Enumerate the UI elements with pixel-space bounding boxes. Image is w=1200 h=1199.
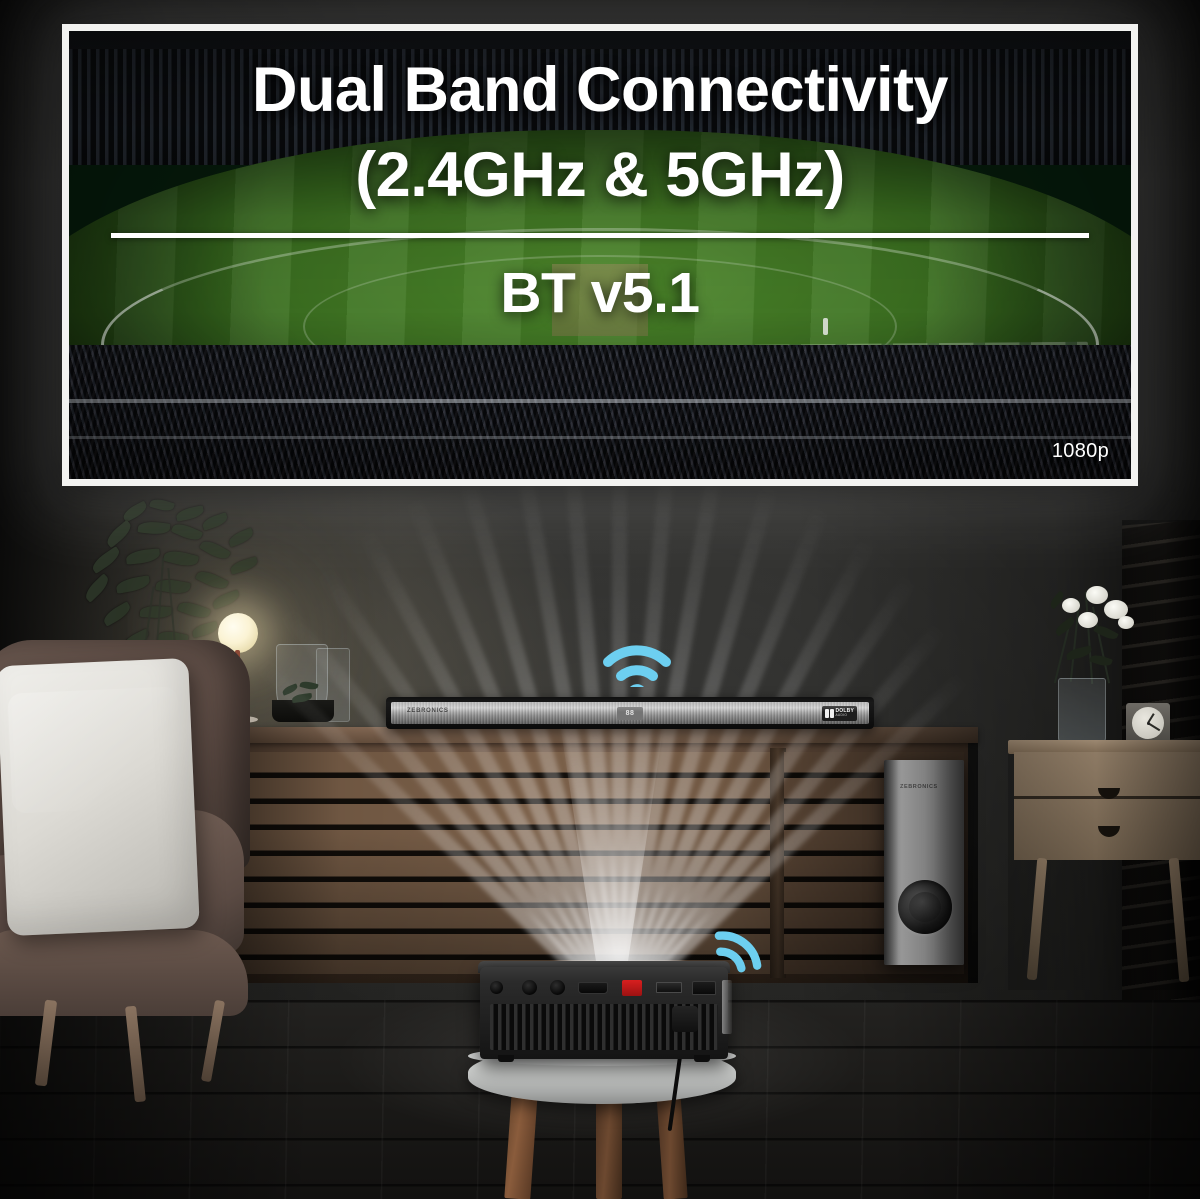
usb-port[interactable] [656,982,682,993]
armchair-cushion-highlight [7,686,182,813]
screen-text-overlay: Dual Band Connectivity (2.4GHz & 5GHz) B… [69,31,1131,479]
av-port[interactable] [622,980,642,996]
flower-vase [1058,678,1106,744]
projector-cable-connector [672,1006,698,1032]
armchair-seat [0,930,248,1016]
ir-sensor [490,981,503,994]
subwoofer[interactable]: ZEBRONICS [884,760,964,965]
hdmi-port[interactable] [578,982,608,994]
projection-screen-frame: Dual Band Connectivity (2.4GHz & 5GHz) B… [62,24,1138,486]
lan-port[interactable] [692,981,716,995]
subwoofer-edge-shading [884,760,964,965]
projector-side-highlight [722,980,732,1034]
console-shading [200,727,978,983]
headline-divider [111,233,1088,238]
side-table-shading [1008,740,1200,990]
soundbar[interactable]: ZEBRONICS 88 DOLBY AUDIO [386,697,874,729]
dolby-badge-subtitle: AUDIO [836,714,855,717]
stool-leg [596,1096,622,1199]
terrarium-soil [272,700,334,722]
projector-io-panel[interactable] [486,976,722,998]
projected-image: Dual Band Connectivity (2.4GHz & 5GHz) B… [69,31,1131,479]
headline-line-2: (2.4GHz & 5GHz) [355,144,845,207]
audio-out-jack[interactable] [522,980,537,995]
wifi-icon-soundbar [600,636,674,692]
resolution-badge: 1080p [1052,440,1109,463]
soundbar-gloss-highlight [391,702,869,712]
audio-in-jack[interactable] [550,980,565,995]
clock-center-pin [1147,722,1150,725]
headline-line-3: BT v5.1 [500,260,699,326]
projector-foot [498,1055,514,1062]
projector-foot [694,1055,710,1062]
headline-line-1: Dual Band Connectivity [252,59,948,122]
